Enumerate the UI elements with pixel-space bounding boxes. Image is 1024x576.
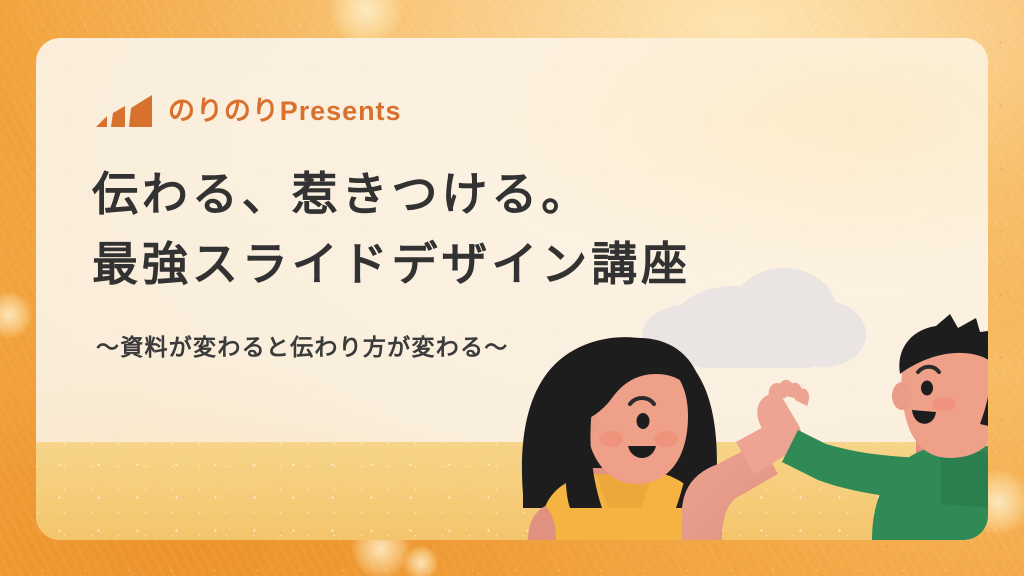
page-title: 伝わる、惹きつける。 最強スライドデザイン講座 [92, 160, 772, 300]
headline-line-2: 最強スライドデザイン講座 [92, 230, 772, 300]
ascending-bars-logo-icon [94, 94, 156, 128]
subtitle: 〜資料が変わると伝わり方が変わる〜 [96, 328, 509, 362]
ground-speckles [36, 442, 988, 540]
logo-text: のりのりPresents [168, 98, 401, 125]
ground-band [36, 442, 988, 540]
brand-logo: のりのりPresents [94, 94, 401, 128]
slide-root: のりのりPresents 伝わる、惹きつける。 最強スライドデザイン講座 〜資料… [0, 0, 1024, 576]
headline-line-1: 伝わる、惹きつける。 [92, 160, 772, 230]
content-card: のりのりPresents 伝わる、惹きつける。 最強スライドデザイン講座 〜資料… [36, 38, 988, 540]
